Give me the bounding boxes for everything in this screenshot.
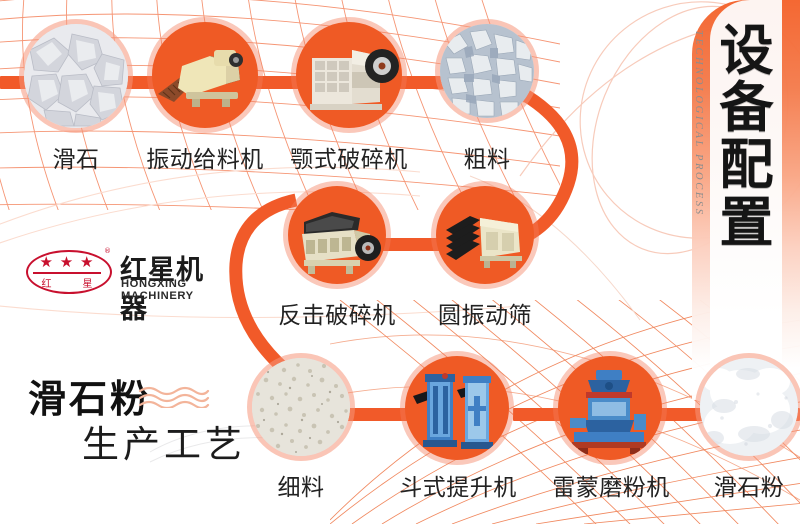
talc-powder-image-circle xyxy=(700,358,798,456)
registered-trademark-icon: ® xyxy=(104,247,111,255)
flow-node-label-vibrating-feeder: 振动给料机 xyxy=(130,140,280,174)
coarse-aggregate-photo xyxy=(440,24,534,118)
talc-rocks-photo xyxy=(24,24,128,128)
bucket-elevator-circle xyxy=(405,356,509,460)
jaw-crusher-machine xyxy=(296,22,402,128)
talc-powder-photo xyxy=(700,358,798,456)
vibrating-screen-circle xyxy=(436,186,534,284)
headline-squiggle-decoration xyxy=(138,386,210,408)
vertical-english-subtitle: TECHNOLOGICAL PROCESS xyxy=(693,30,704,217)
vertical-title-char-4: 置 xyxy=(710,194,784,251)
flow-node-label-bucket-elevator: 斗式提升机 xyxy=(383,468,533,502)
raymond-mill-circle xyxy=(558,356,662,460)
vertical-title-char-1: 设 xyxy=(710,22,784,79)
flow-node-label-coarse: 粗料 xyxy=(431,140,543,174)
fine-granule-photo xyxy=(252,358,350,456)
vibrating-feeder-machine xyxy=(152,22,258,128)
fine-image-circle xyxy=(252,358,350,456)
jaw-crusher-circle xyxy=(296,22,402,128)
process-flow-infographic: TECHNOLOGICAL PROCESS 设 备 配 置 xyxy=(0,0,800,524)
flow-node-label-talc-powder: 滑石粉 xyxy=(689,468,800,502)
vertical-title-char-2: 备 xyxy=(710,79,784,136)
connector-bar-mill-to-powder xyxy=(655,408,705,421)
impact-crusher-machine xyxy=(288,186,386,284)
flow-node-label-impact-crusher: 反击破碎机 xyxy=(261,296,413,330)
talc-image-circle xyxy=(24,24,128,128)
logo-mark-char-right: 星 xyxy=(83,275,93,290)
flow-node-label-vibrating-screen: 圆振动筛 xyxy=(425,296,545,330)
impact-crusher-circle xyxy=(288,186,386,284)
raymond-mill-machine xyxy=(558,356,662,460)
logo-mark-char-left: 红 xyxy=(42,275,52,290)
brand-logo[interactable]: ★ ★ ★ 红 星 ® 红星机器 HONGXING MACHINERY xyxy=(26,246,226,294)
logo-mark-text: 红 星 xyxy=(26,275,108,289)
flow-node-label-raymond-mill: 雷蒙磨粉机 xyxy=(536,468,686,502)
bucket-elevator-machine xyxy=(405,356,509,460)
flow-node-label-jaw-crusher: 颚式破碎机 xyxy=(274,140,424,174)
flow-node-label-fine: 细料 xyxy=(244,468,358,502)
coarse-image-circle xyxy=(440,24,534,118)
headline-secondary: 生产工艺 xyxy=(82,414,246,468)
vibrating-feeder-circle xyxy=(152,22,258,128)
logo-stars-icon: ★ ★ ★ xyxy=(26,254,108,271)
logo-company-name-en: HONGXING MACHINERY xyxy=(121,278,226,302)
circular-vibrating-screen-machine xyxy=(436,186,534,284)
vertical-title: 设 备 配 置 xyxy=(710,22,784,251)
logo-divider xyxy=(33,272,101,274)
flow-node-label-talc: 滑石 xyxy=(20,140,132,174)
vertical-title-char-3: 配 xyxy=(710,136,784,193)
